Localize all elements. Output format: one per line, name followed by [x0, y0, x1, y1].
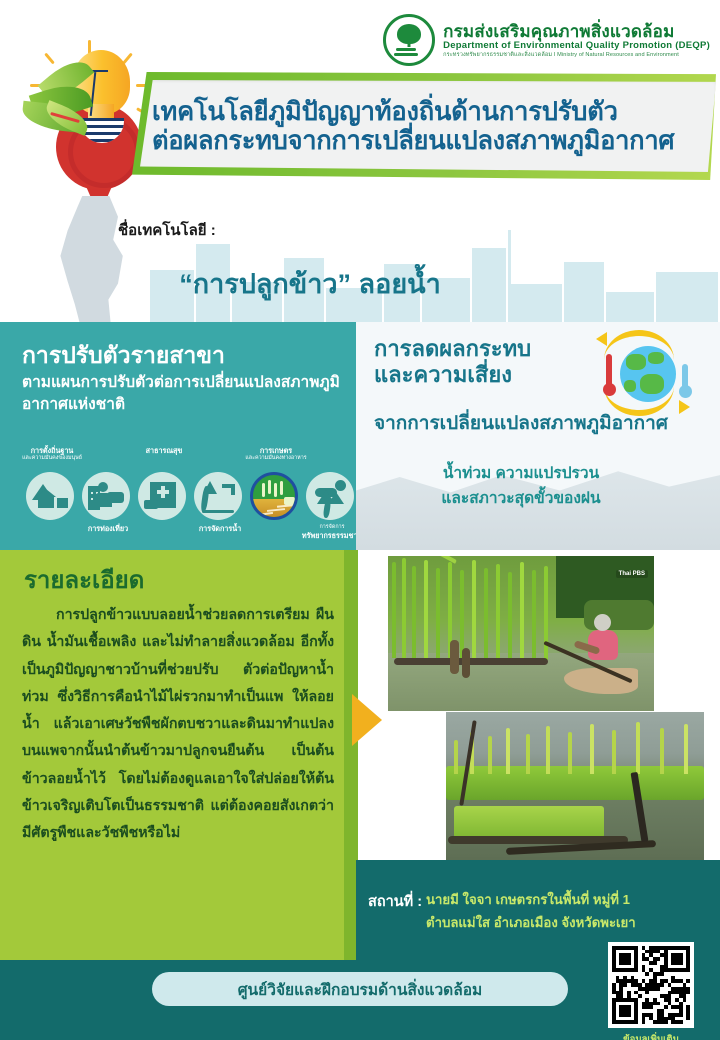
sector-item-tourism[interactable]: การท่องเที่ยว [82, 472, 134, 520]
sector-label-agriculture: การเกษตร และความมั่นคงทางอาหาร [224, 446, 328, 462]
sector-label-health: สาธารณสุข [112, 446, 216, 455]
sector-label-settlement: การตั้งถิ่นฐาน และความมั่นคงของมนุษย์ [0, 446, 104, 462]
deqp-logo-block: กรมส่งเสริมคุณภาพสิ่งแวดล้อม Department … [383, 14, 710, 66]
deqp-seal-icon [383, 14, 435, 66]
technology-name: “การปลูกข้าว” ลอยน้ำ [0, 262, 620, 305]
agriculture-wheat-field-icon [250, 472, 298, 520]
globe-warming-thermometer-icon [590, 328, 694, 418]
impact-sub-line-1: น้ำท่วม ความแปรปรวน [356, 462, 686, 487]
location-value: นายมี ใจจา เกษตรกรในพื้นที่ หมู่ที่ 1 ตำ… [426, 888, 712, 934]
title-line-1: เทคโนโลยีภูมิปัญญาท้องถิ่นด้านการปรับตัว [152, 99, 708, 126]
technology-label: ชื่อเทคโนโลยี : [118, 218, 216, 242]
location-label: สถานที่ : [368, 890, 422, 913]
sector-icon-row: การตั้งถิ่นฐาน และความมั่นคงของมนุษย์ [8, 448, 356, 544]
impact-subtext: น้ำท่วม ความแปรปรวน และสภาวะสุดขั้วของฝน [356, 462, 686, 512]
impact-sub-line-2: และสภาวะสุดขั้วของฝน [356, 487, 686, 512]
page-title: เทคโนโลยีภูมิปัญญาท้องถิ่นด้านการปรับตัว… [152, 84, 708, 170]
sector-item-settlement[interactable]: การตั้งถิ่นฐาน และความมั่นคงของมนุษย์ [26, 472, 78, 520]
sector-adaptation-panel: การปรับตัวรายสาขา ตามแผนการปรับตัวต่อการ… [0, 322, 356, 550]
village-hills-icon [26, 472, 74, 520]
sector-item-natural-resources[interactable]: การจัดการ ทรัพยากรธรรมชาติ [306, 472, 358, 520]
impact-panel-heading: การลดผลกระทบ และความเสี่ยง [374, 336, 594, 389]
research-center-pill: ศูนย์วิจัยและฝึกอบรมด้านสิ่งแวดล้อม [152, 972, 568, 1006]
sector-panel-heading: การปรับตัวรายสาขา [22, 338, 225, 374]
org-text-block: กรมส่งเสริมคุณภาพสิ่งแวดล้อม Department … [443, 22, 710, 58]
location-line-2: ตำบลแม่ใส อำเภอเมือง จังหวัดพะเยา [426, 911, 712, 934]
photo-farmer-boat: Thai PBS [388, 556, 654, 711]
title-line-2: ต่อผลกระทบจากการเปลี่ยนแปลงสภาพภูมิอากาศ [152, 128, 708, 155]
impact-heading-line-3: จากการเปลี่ยนแปลงสภาพภูมิอากาศ [374, 408, 704, 438]
natural-resources-mountain-icon [306, 472, 354, 520]
tourism-city-bus-icon [82, 472, 130, 520]
sector-item-water[interactable]: การจัดการน้ำ [194, 472, 246, 520]
qr-code-icon[interactable] [608, 942, 694, 1028]
header-band: กรมส่งเสริมคุณภาพสิ่งแวดล้อม Department … [0, 0, 720, 196]
org-name-english: Department of Environmental Quality Prom… [443, 41, 710, 52]
impact-heading-line-1: การลดผลกระทบ [374, 336, 594, 362]
sector-item-agriculture[interactable]: การเกษตร และความมั่นคงทางอาหาร [250, 472, 302, 520]
org-ministry-line: กระทรวงทรัพยากรธรรมชาติและสิ่งแวดล้อม I … [443, 52, 710, 58]
poster-root: กรมส่งเสริมคุณภาพสิ่งแวดล้อม Department … [0, 0, 720, 1040]
photo-watermark: Thai PBS [616, 570, 648, 578]
sector-label-water: การจัดการน้ำ [168, 524, 272, 533]
footer-bar: ศูนย์วิจัยและฝึกอบรมด้านสิ่งแวดล้อม ข้อม… [0, 960, 720, 1040]
org-name-thai: กรมส่งเสริมคุณภาพสิ่งแวดล้อม [443, 22, 710, 41]
details-body-text: การปลูกข้าวแบบลอยน้ำช่วยลดการเตรียม ผืนด… [22, 602, 334, 847]
hospital-ambulance-icon [138, 472, 186, 520]
sector-item-health[interactable]: สาธารณสุข [138, 472, 190, 520]
water-tap-river-icon [194, 472, 242, 520]
research-center-name: ศูนย์วิจัยและฝึกอบรมด้านสิ่งแวดล้อม [238, 977, 483, 1002]
details-heading: รายละเอียด [24, 560, 144, 599]
qr-caption: ข้อมูลเพิ่มเติม [596, 1032, 706, 1040]
photo-floating-rice-rafts [446, 712, 704, 860]
location-line-1: นายมี ใจจา เกษตรกรในพื้นที่ หมู่ที่ 1 [426, 888, 712, 911]
yellow-pointer-arrow-icon [352, 694, 382, 746]
impact-heading-line-2: และความเสี่ยง [374, 362, 594, 388]
sector-panel-subheading: ตามแผนการปรับตัวต่อการเปลี่ยนแปลงสภาพภูม… [22, 372, 342, 417]
details-panel: รายละเอียด การปลูกข้าวแบบลอยน้ำช่วยลดการ… [0, 550, 356, 960]
sector-label-tourism: การท่องเที่ยว [56, 524, 160, 533]
impact-reduction-panel: การลดผลกระทบ และความเสี่ยง จากการเปลี่ยน… [356, 322, 720, 550]
